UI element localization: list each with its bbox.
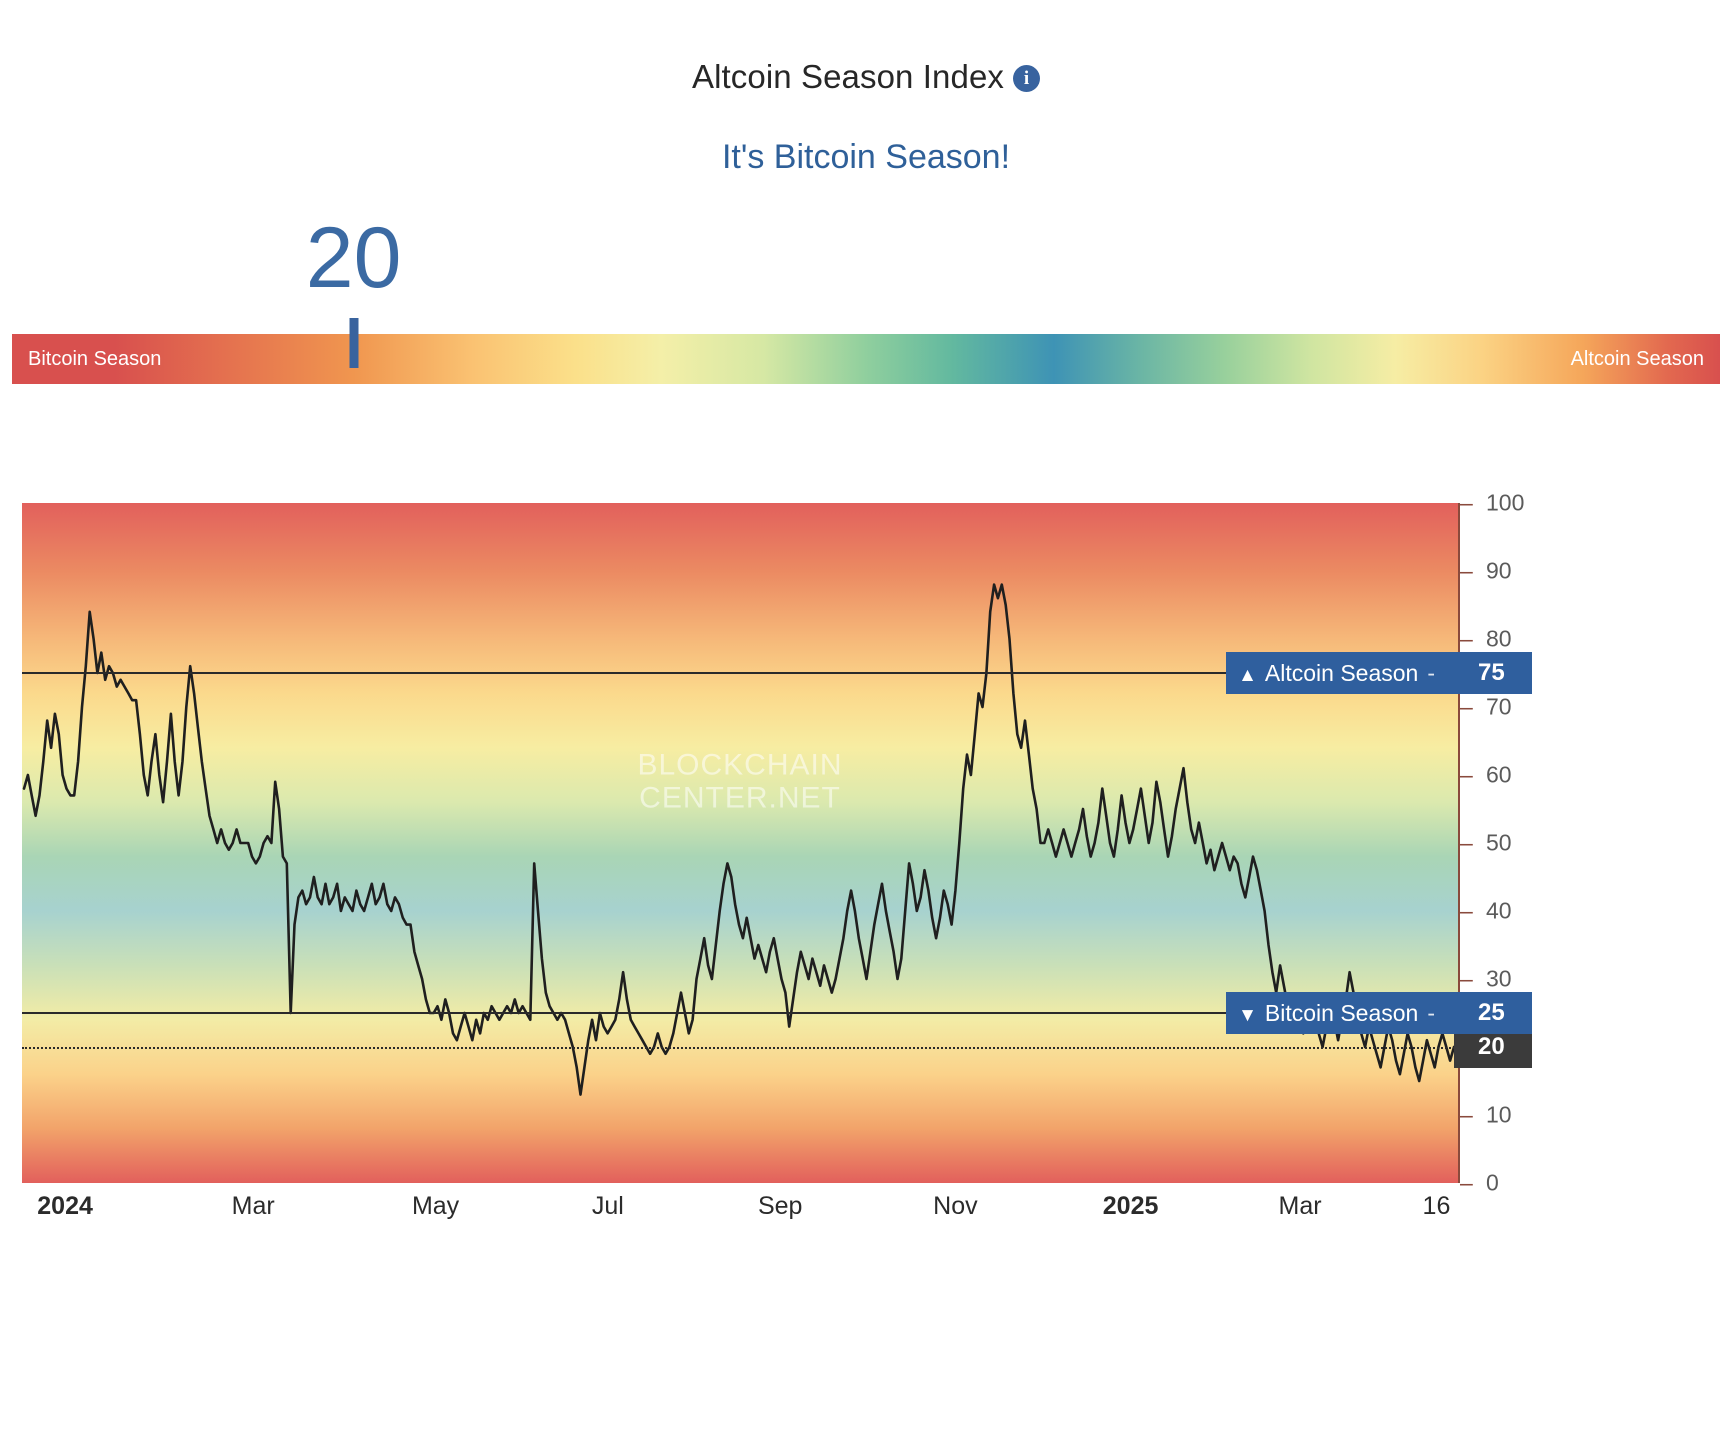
y-tick-90: –90 [1460, 558, 1512, 585]
bitcoin-badge-label: Bitcoin Season [1265, 1000, 1418, 1026]
bitcoin-season-threshold-badge: ▼Bitcoin Season- [1226, 992, 1458, 1034]
bitcoin-badge-sep: - [1427, 1000, 1435, 1026]
x-tick-Nov: Nov [933, 1192, 977, 1221]
x-axis: 2024MarMayJulSepNov2025Mar16 [22, 1192, 1458, 1252]
x-tick-16: 16 [1423, 1192, 1451, 1221]
season-headline: It's Bitcoin Season! [0, 138, 1732, 177]
gauge-needle [349, 318, 358, 368]
x-tick-Mar: Mar [1279, 1192, 1322, 1221]
y-tick-50: –50 [1460, 830, 1512, 857]
y-axis: –0–102025–30–40–50–60–7075–80–90–100 [1460, 503, 1710, 1183]
y-tick-80: –80 [1460, 626, 1512, 653]
y-tick-0: –0 [1460, 1170, 1499, 1197]
x-tick-Mar: Mar [232, 1192, 275, 1221]
gauge-label-bitcoin-season: Bitcoin Season [28, 334, 161, 384]
y-tick-60: –60 [1460, 762, 1512, 789]
page-title: Altcoin Season Indexi [0, 0, 1732, 96]
index-line-series [22, 503, 1458, 1183]
page-title-text: Altcoin Season Index [692, 58, 1004, 95]
y-tick-10: –10 [1460, 1102, 1512, 1129]
x-tick-Sep: Sep [758, 1192, 802, 1221]
y-tick-40: –40 [1460, 898, 1512, 925]
gauge: 20 Bitcoin Season Altcoin Season [0, 203, 1732, 333]
gauge-label-altcoin-season: Altcoin Season [1571, 334, 1704, 384]
altcoin-season-threshold-badge: ▲Altcoin Season- [1226, 652, 1458, 694]
y-axis-threshold-badge-75: 75 [1454, 652, 1532, 694]
x-tick-2024: 2024 [37, 1192, 93, 1221]
altcoin-badge-sep: - [1427, 660, 1435, 686]
altcoin-badge-label: Altcoin Season [1265, 660, 1418, 686]
y-tick-70: –70 [1460, 694, 1512, 721]
triangle-up-icon: ▲ [1238, 665, 1257, 686]
plot-area[interactable]: BLOCKCHAIN CENTER.NET [22, 503, 1458, 1183]
chart[interactable]: BLOCKCHAIN CENTER.NET –0–102025–30–40–50… [22, 503, 1710, 1183]
y-tick-100: –100 [1460, 490, 1524, 517]
x-tick-May: May [412, 1192, 459, 1221]
gauge-bar: Bitcoin Season Altcoin Season [12, 334, 1720, 384]
triangle-down-icon: ▼ [1238, 1005, 1257, 1026]
x-tick-Jul: Jul [592, 1192, 624, 1221]
x-tick-2025: 2025 [1103, 1192, 1159, 1221]
y-tick-30: –30 [1460, 966, 1512, 993]
info-icon[interactable]: i [1013, 65, 1040, 92]
score-value: 20 [306, 215, 402, 301]
y-axis-threshold-badge-25: 25 [1454, 992, 1532, 1034]
current-level-line [22, 1047, 1458, 1049]
